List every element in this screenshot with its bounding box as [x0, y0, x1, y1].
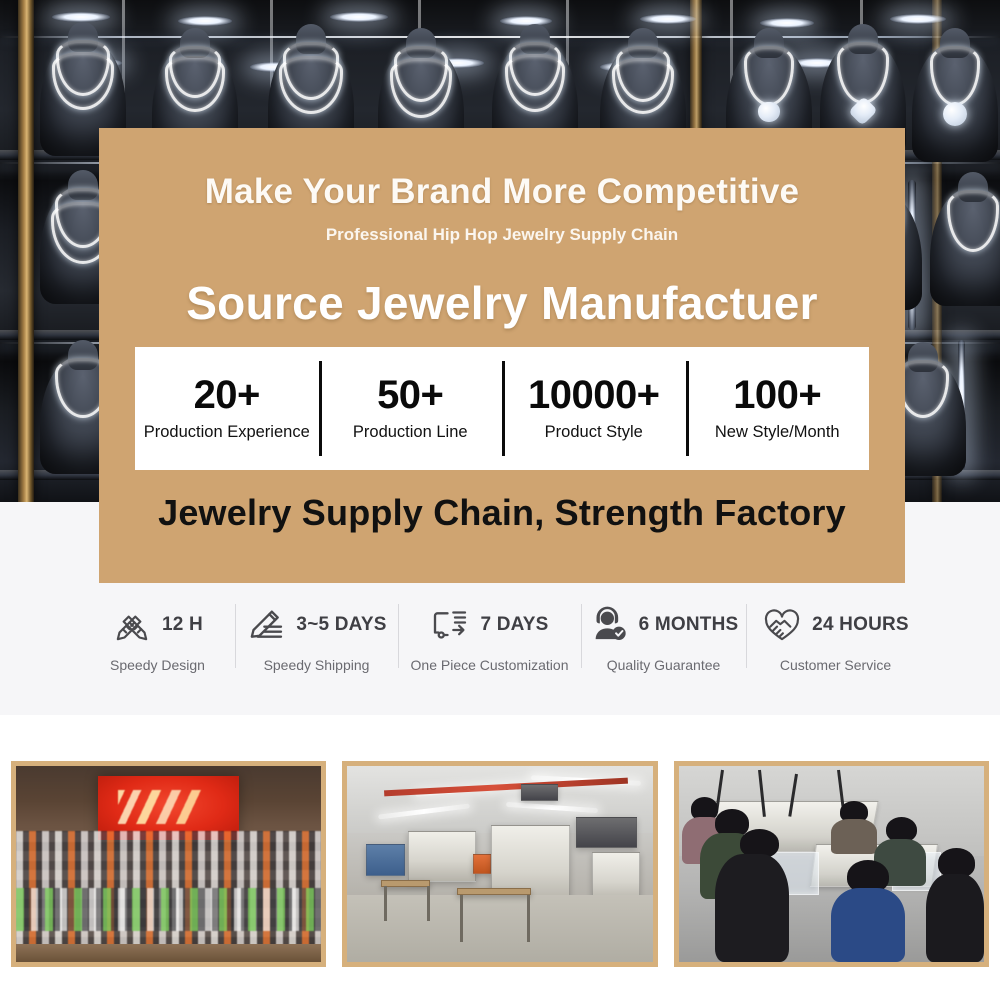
workbench-photo	[674, 761, 989, 967]
feature-name: One Piece Customization	[411, 657, 569, 673]
feature-one-piece-customization: 7 DAYS One Piece Customization	[398, 602, 581, 673]
stat-label: Product Style	[545, 423, 643, 442]
stat-item: 100+ New Style/Month	[686, 347, 870, 470]
feature-value: 7 DAYS	[480, 614, 548, 636]
stats-bar: 20+ Production Experience 50+ Production…	[135, 347, 869, 470]
feature-speedy-design: 12 H Speedy Design	[80, 602, 235, 673]
factory-floor-photo	[342, 761, 657, 967]
panel-subheadline: Professional Hip Hop Jewelry Supply Chai…	[99, 225, 905, 245]
promo-panel: Make Your Brand More Competitive Profess…	[99, 128, 905, 583]
feature-speedy-shipping: 3~5 DAYS Speedy Shipping	[235, 602, 398, 673]
features-list: 12 H Speedy Design 3~5 DAYS Speedy Shipp…	[80, 602, 925, 688]
stat-label: Production Line	[353, 423, 468, 442]
pendant-bust	[912, 44, 998, 162]
led-light	[640, 14, 696, 24]
feature-name: Speedy Design	[110, 657, 205, 673]
feature-value: 12 H	[162, 614, 203, 636]
stat-value: 20+	[194, 375, 260, 417]
stat-value: 10000+	[528, 375, 660, 417]
led-light	[178, 16, 232, 26]
led-light	[330, 12, 388, 22]
feature-value: 6 MONTHS	[639, 614, 739, 636]
led-light	[760, 18, 814, 28]
feature-value: 24 HOURS	[812, 614, 909, 636]
handshake-heart-icon	[762, 605, 802, 645]
panel-headline: Make Your Brand More Competitive	[99, 172, 905, 212]
headset-check-icon	[589, 605, 629, 645]
stat-value: 50+	[377, 375, 443, 417]
led-light	[52, 12, 110, 22]
photo-gallery	[11, 761, 989, 967]
panel-title: Source Jewelry Manufactuer	[99, 276, 905, 330]
pencil-lines-icon	[246, 605, 286, 645]
feature-customer-service: 24 HOURS Customer Service	[746, 602, 925, 673]
stat-value: 100+	[733, 375, 821, 417]
feature-name: Speedy Shipping	[264, 657, 370, 673]
delivery-truck-icon	[430, 605, 470, 645]
stat-item: 10000+ Product Style	[502, 347, 686, 470]
panel-tagline: Jewelry Supply Chain, Strength Factory	[99, 492, 905, 534]
stat-item: 20+ Production Experience	[135, 347, 319, 470]
led-light	[500, 16, 552, 26]
stat-label: New Style/Month	[715, 423, 840, 442]
ruler-pencil-icon	[112, 605, 152, 645]
feature-quality-guarantee: 6 MONTHS Quality Guarantee	[581, 602, 746, 673]
led-light	[890, 14, 946, 24]
feature-value: 3~5 DAYS	[296, 614, 386, 636]
feature-name: Customer Service	[780, 657, 891, 673]
feature-name: Quality Guarantee	[607, 657, 721, 673]
stat-label: Production Experience	[144, 423, 310, 442]
stat-item: 50+ Production Line	[319, 347, 503, 470]
team-group-photo	[11, 761, 326, 967]
cabinet-pillar	[18, 0, 34, 502]
